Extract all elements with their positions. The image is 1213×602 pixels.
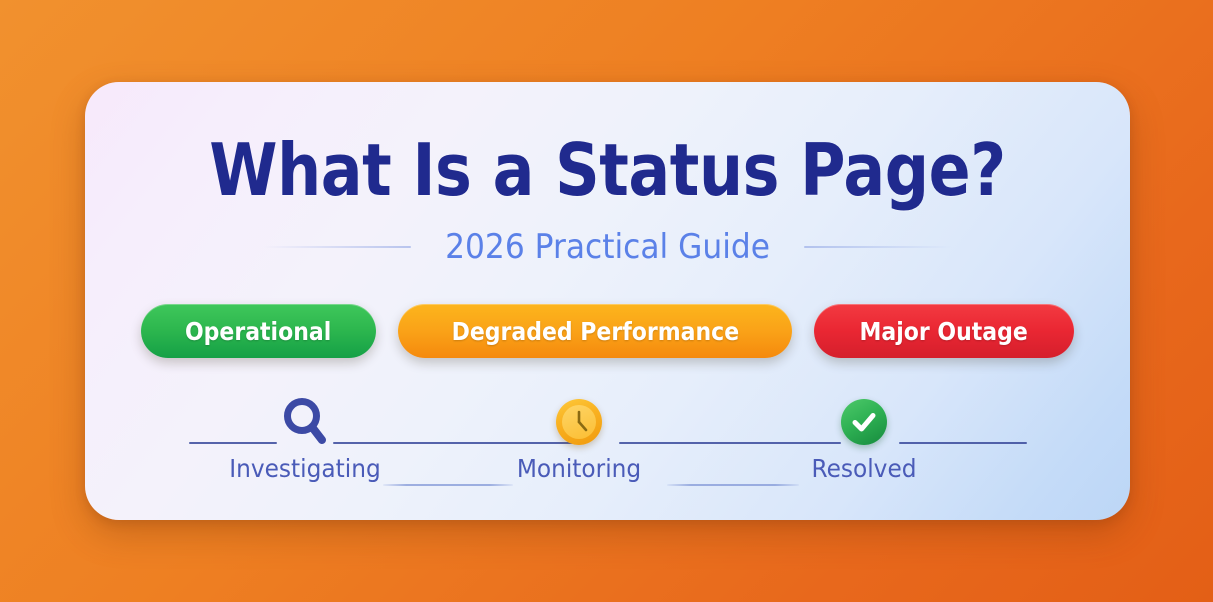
timeline-label-resolved: Resolved [771, 456, 957, 481]
page-subtitle: 2026 Practical Guide [445, 230, 770, 264]
timeline-step-monitoring[interactable]: Monitoring [479, 392, 679, 481]
status-badge-outage[interactable]: Major Outage [814, 304, 1073, 358]
status-badge-row: Operational Degraded Performance Major O… [85, 304, 1130, 358]
status-badge-outage-label: Major Outage [860, 317, 1028, 346]
status-page-card: What Is a Status Page? 2026 Practical Gu… [85, 82, 1130, 520]
infographic-canvas: What Is a Status Page? 2026 Practical Gu… [0, 0, 1213, 602]
timeline-step-investigating[interactable]: Investigating [205, 392, 405, 481]
clock-icon [479, 392, 679, 452]
title-block: What Is a Status Page? [85, 134, 1130, 206]
magnifier-icon [205, 392, 405, 452]
timeline-label-monitoring: Monitoring [486, 456, 672, 481]
subtitle-rule-right [804, 246, 952, 248]
status-badge-operational-label: Operational [185, 317, 331, 346]
status-badge-degraded[interactable]: Degraded Performance [398, 304, 793, 358]
status-badge-degraded-label: Degraded Performance [451, 317, 739, 346]
subtitle-block: 2026 Practical Guide [85, 230, 1130, 264]
status-badge-operational[interactable]: Operational [141, 304, 375, 358]
check-circle-icon [764, 392, 964, 452]
page-title: What Is a Status Page? [158, 134, 1057, 206]
timeline-label-investigating: Investigating [212, 456, 398, 481]
incident-timeline: Investigating [189, 392, 1027, 500]
timeline-step-resolved[interactable]: Resolved [764, 392, 964, 481]
subtitle-rule-left [263, 246, 411, 248]
